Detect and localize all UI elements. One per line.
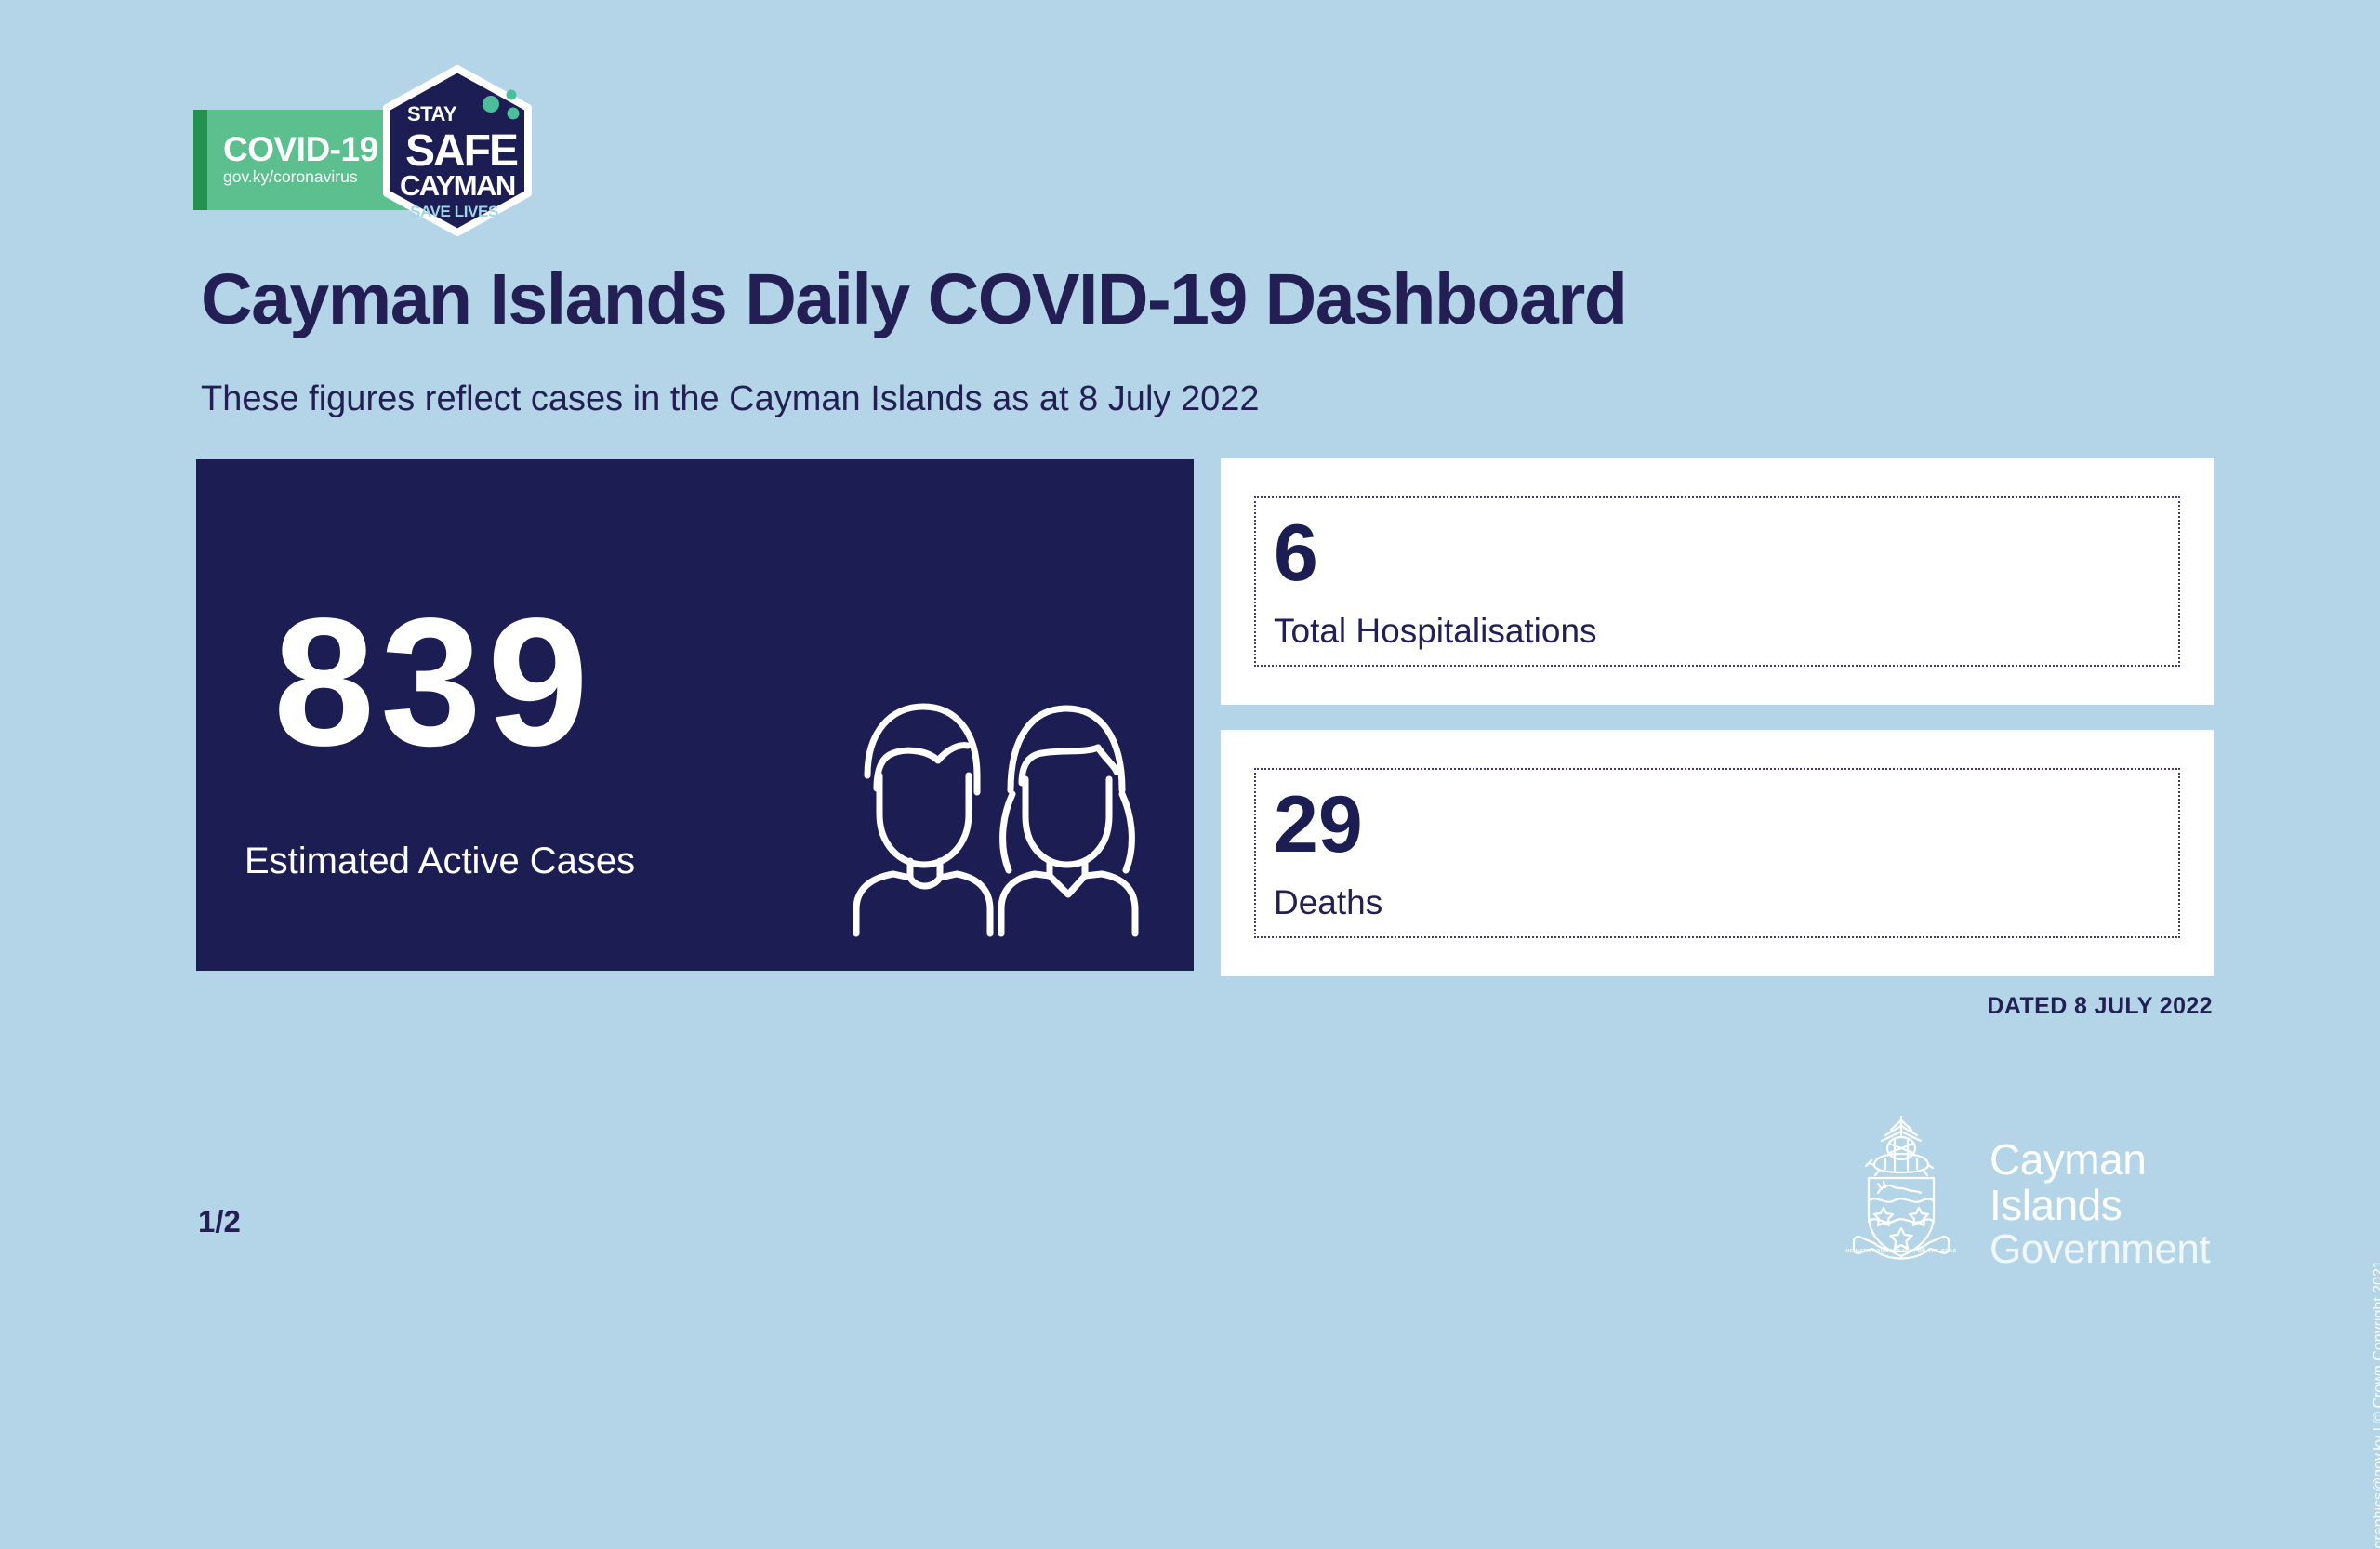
stay-safe-cayman-hex-badge: STAY SAFE CAYMAN SAVE LIVES xyxy=(379,65,535,236)
two-people-icon xyxy=(828,679,1144,939)
hospitalisations-dotted-frame: 6 Total Hospitalisations xyxy=(1254,496,2180,667)
dated-stamp: DATED 8 JULY 2022 xyxy=(1987,993,2213,1020)
cayman-islands-government-logo: HE HATH FOUNDED IT UPON THE SEAS Cayman … xyxy=(1841,1111,2241,1278)
svg-text:STAY: STAY xyxy=(407,102,457,126)
covid-safe-cayman-logo: COVID-19 gov.ky/coronavirus STAY SAFE CA… xyxy=(193,65,565,205)
hospitalisations-label: Total Hospitalisations xyxy=(1274,612,1597,651)
deaths-dotted-frame: 29 Deaths xyxy=(1254,768,2180,938)
page-number: 1/2 xyxy=(198,1204,241,1239)
cig-wordmark-line2: Government xyxy=(1990,1228,2241,1272)
active-cases-label: Estimated Active Cases xyxy=(245,841,635,882)
deaths-label: Deaths xyxy=(1274,883,1382,922)
deaths-value: 29 xyxy=(1274,785,1363,865)
copyright-vertical-text: graphics@gov.ky | © Crown Copyright 2021 xyxy=(2371,1260,2380,1548)
deaths-card: 29 Deaths xyxy=(1221,730,2214,976)
coat-of-arms-motto: HE HATH FOUNDED IT UPON THE SEAS xyxy=(1845,1249,1957,1254)
page-subtitle: These figures reflect cases in the Cayma… xyxy=(201,379,1259,419)
cig-wordmark: Cayman Islands Government xyxy=(1990,1137,2241,1271)
cig-wordmark-line1: Cayman Islands xyxy=(1990,1137,2241,1228)
page-title: Cayman Islands Daily COVID-19 Dashboard xyxy=(201,258,1626,341)
svg-text:CAYMAN: CAYMAN xyxy=(400,169,515,202)
hospitalisations-card: 6 Total Hospitalisations xyxy=(1221,458,2214,705)
active-cases-value: 839 xyxy=(273,591,594,774)
active-cases-card: 839 Estimated Active Cases xyxy=(196,459,1194,971)
svg-text:SAVE LIVES: SAVE LIVES xyxy=(410,203,498,220)
coat-of-arms-icon: HE HATH FOUNDED IT UPON THE SEAS xyxy=(1841,1111,1962,1269)
hospitalisations-value: 6 xyxy=(1274,513,1318,593)
